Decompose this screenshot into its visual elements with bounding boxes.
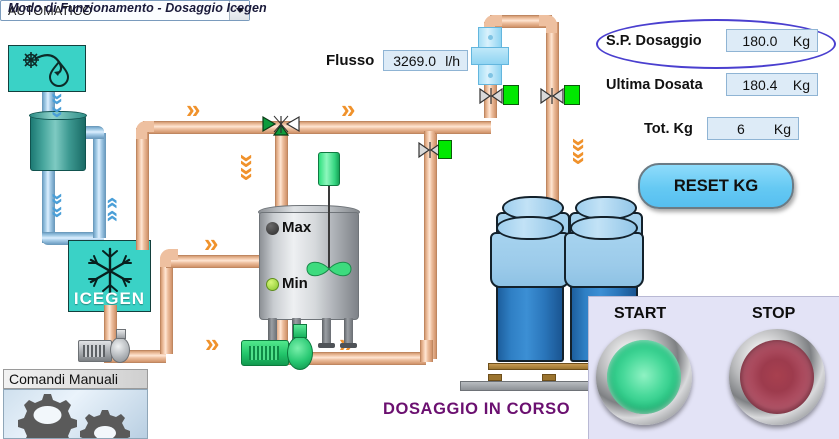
start-button[interactable] xyxy=(596,329,692,425)
product-pipe-to-top-run xyxy=(435,121,491,134)
hmi-canvas: Modo di Funzionamento - Dosaggio Icegen … xyxy=(0,0,839,439)
page-title: Modo di Funzionamento - Dosaggio Icegen xyxy=(8,1,267,15)
tank-foot xyxy=(340,343,357,348)
flow-field: 3269.0 l/h xyxy=(383,50,468,71)
flowmeter[interactable] xyxy=(471,27,509,85)
heat-exchanger xyxy=(30,115,86,171)
manual-commands-caption: Comandi Manuali xyxy=(3,369,148,389)
flow-arrow-5: » xyxy=(204,230,218,256)
icegen-unit[interactable]: ICEGEN xyxy=(68,240,151,312)
readout-value-2: 6 xyxy=(708,121,774,137)
valve-right-riser-status-led xyxy=(564,85,580,105)
readout-unit-1: Kg xyxy=(793,77,817,93)
dosing-pump-green[interactable] xyxy=(241,334,319,372)
readout-unit-0: Kg xyxy=(793,33,817,49)
readout-label-2: Tot. Kg xyxy=(644,121,693,137)
product-pipe-riser2 xyxy=(160,262,173,354)
readout-unit-2: Kg xyxy=(774,121,798,137)
valve-right-branch-status-led xyxy=(438,140,452,159)
product-elbow-topleft xyxy=(136,121,154,139)
tank-leg xyxy=(344,318,353,344)
flow-label: Flusso xyxy=(326,52,374,69)
butterfly-valve-icon xyxy=(261,113,301,143)
status-message: DOSAGGIO IN CORSO xyxy=(383,400,570,419)
readout-value-0: 180.0 xyxy=(727,33,793,49)
tank-min-label: Min xyxy=(282,275,308,292)
tank-max-label: Max xyxy=(282,219,311,236)
agitator-impeller xyxy=(305,258,353,280)
flow-arrow-water-up-1: » xyxy=(100,197,122,209)
flow-arrow-4: » xyxy=(235,167,261,181)
water-pipe-return-up xyxy=(93,133,106,238)
tank-leg xyxy=(322,318,331,344)
flow-value: 3269.0 xyxy=(384,53,445,69)
level-switch-max-indicator xyxy=(266,222,279,235)
readout-field-1: 180.4 Kg xyxy=(726,73,818,96)
flow-arrow-2: » xyxy=(341,96,355,122)
reset-kg-button[interactable]: RESET KG xyxy=(638,163,794,209)
gears-icon[interactable] xyxy=(3,389,148,439)
flow-unit: l/h xyxy=(445,53,467,69)
icegen-pump-grey[interactable] xyxy=(78,336,134,366)
readout-label-0: S.P. Dosaggio xyxy=(606,33,702,49)
manual-commands-panel[interactable]: Comandi Manuali xyxy=(3,369,148,439)
product-pipe-left-riser xyxy=(136,128,149,250)
agitator-motor[interactable] xyxy=(318,152,340,186)
flow-arrow-water-4: » xyxy=(47,206,69,218)
valve-tank-inlet-3way[interactable] xyxy=(261,113,301,148)
stop-lamp xyxy=(740,340,814,414)
flow-arrow-water-up-2: » xyxy=(100,210,122,222)
butterfly-valve-icon xyxy=(478,86,504,106)
gears-icon xyxy=(4,390,148,439)
readout-label-1: Ultima Dosata xyxy=(606,77,703,93)
flow-arrow-water-1: » xyxy=(47,93,69,105)
product-elbow-mid xyxy=(160,249,178,267)
start-lamp xyxy=(607,340,681,414)
stop-button[interactable] xyxy=(729,329,825,425)
flow-arrow-1: » xyxy=(186,96,200,122)
readout-field-0[interactable]: 180.0 Kg xyxy=(726,29,818,52)
valve-flowmeter-status-led xyxy=(503,85,519,105)
flow-arrow-water-3: » xyxy=(47,193,69,205)
product-pipe-right-branch xyxy=(424,131,437,359)
ice-water-droplet-icon xyxy=(9,46,87,93)
ice-water-unit[interactable] xyxy=(8,45,86,92)
stop-button-label: STOP xyxy=(752,305,795,323)
flow-arrow-9: » xyxy=(567,151,593,165)
valve-right-riser[interactable] xyxy=(539,86,565,111)
start-button-label: START xyxy=(614,305,666,323)
level-switch-min-indicator xyxy=(266,278,279,291)
drum-front-left[interactable] xyxy=(496,216,564,364)
tank-foot xyxy=(318,343,335,348)
readout-field-2: 6 Kg xyxy=(707,117,799,140)
product-pipe-bottom-right xyxy=(420,340,433,362)
valve-flowmeter-outlet[interactable] xyxy=(478,86,504,111)
product-elbow-loop-right xyxy=(539,15,557,33)
flow-arrow-6: » xyxy=(205,330,219,356)
flow-arrow-water-2: » xyxy=(47,106,69,118)
butterfly-valve-icon xyxy=(539,86,565,106)
control-panel: START STOP xyxy=(588,296,839,439)
readout-value-1: 180.4 xyxy=(727,77,793,93)
